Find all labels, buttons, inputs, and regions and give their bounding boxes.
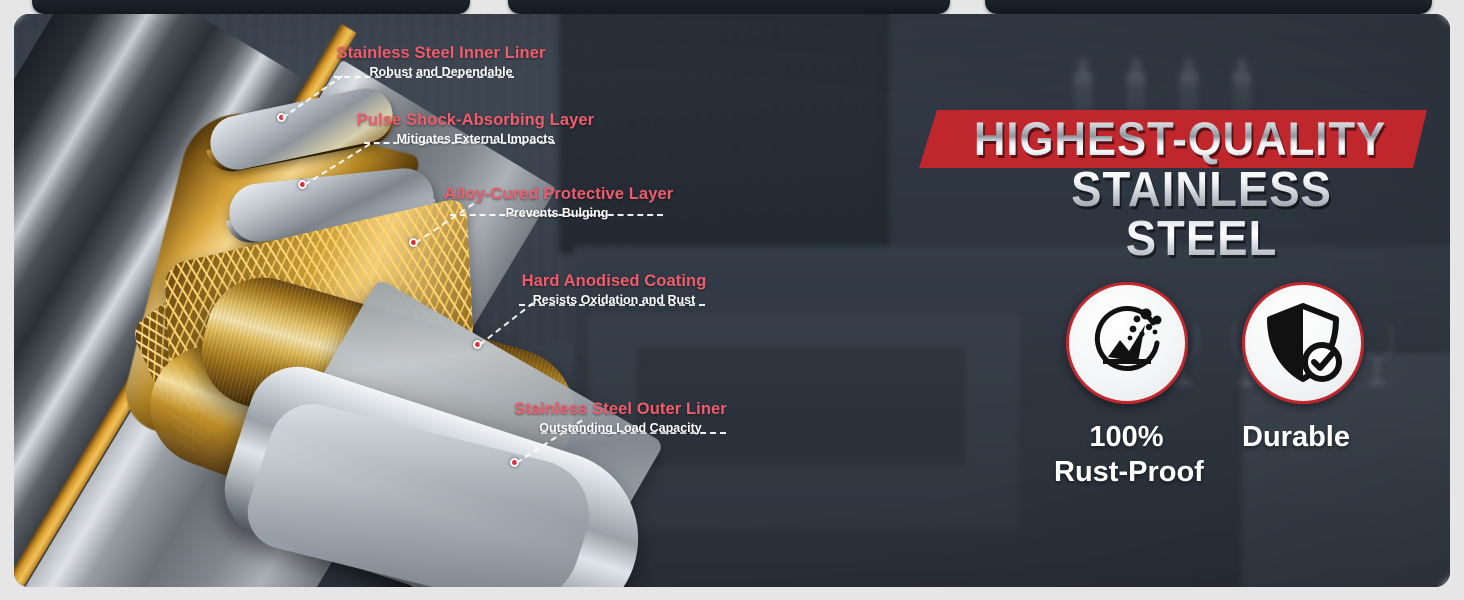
- shield-check-icon: [1260, 300, 1346, 386]
- infographic-page: Stainless Steel Inner Liner Robust and D…: [0, 0, 1464, 600]
- callout-hard-anodised-coating: Hard Anodised Coating Resists Oxidation …: [514, 272, 714, 307]
- feature-caption-line-1: Durable: [1242, 421, 1350, 453]
- banner-line-2: STAINLESS STEEL: [990, 166, 1413, 264]
- quality-banner: HIGHEST-QUALITY STAINLESS STEEL: [919, 110, 1449, 235]
- callout-subtitle: Outstanding Load Capacity: [512, 421, 729, 435]
- callout-subtitle: Prevents Bulging: [444, 206, 670, 220]
- banner-line-1: HIGHEST-QUALITY: [961, 109, 1398, 167]
- top-card-1[interactable]: [32, 0, 470, 14]
- feature-rust-proof: 100% Rust-Proof: [1054, 282, 1199, 491]
- callout-title: Hard Anodised Coating: [514, 272, 714, 291]
- callout-alloy-cured-protective-layer: Alloy-Cured Protective Layer Prevents Bu…: [444, 185, 670, 220]
- feature-caption-line-1: 100%: [1089, 421, 1163, 453]
- callout-subtitle: Resists Oxidation and Rust: [514, 293, 714, 307]
- rust-proof-icon: [1083, 299, 1171, 387]
- callout-stainless-steel-outer-liner: Stainless Steel Outer Liner Outstanding …: [512, 400, 729, 435]
- callout-subtitle: Mitigates External Impacts: [352, 132, 599, 146]
- durable-badge: [1242, 282, 1364, 404]
- feature-durable: Durable: [1242, 282, 1370, 455]
- callout-pulse-shock-absorbing-layer: Pulse Shock-Absorbing Layer Mitigates Ex…: [352, 111, 599, 146]
- callout-title: Pulse Shock-Absorbing Layer: [352, 111, 599, 130]
- top-card-3[interactable]: [985, 0, 1432, 14]
- rust-proof-badge: [1066, 282, 1188, 404]
- feature-caption: Durable: [1242, 420, 1370, 455]
- callout-stainless-steel-inner-liner: Stainless Steel Inner Liner Robust and D…: [326, 44, 556, 79]
- feature-caption-line-2: Rust-Proof: [1054, 456, 1204, 488]
- callout-subtitle: Robust and Dependable: [326, 65, 556, 79]
- feature-caption: 100% Rust-Proof: [1054, 420, 1199, 491]
- callout-title: Stainless Steel Inner Liner: [326, 44, 556, 63]
- callout-title: Stainless Steel Outer Liner: [512, 400, 729, 419]
- top-card-2[interactable]: [508, 0, 950, 14]
- infographic-panel: Stainless Steel Inner Liner Robust and D…: [14, 14, 1450, 587]
- callout-title: Alloy-Cured Protective Layer: [444, 185, 670, 204]
- top-card-row: [0, 0, 1464, 14]
